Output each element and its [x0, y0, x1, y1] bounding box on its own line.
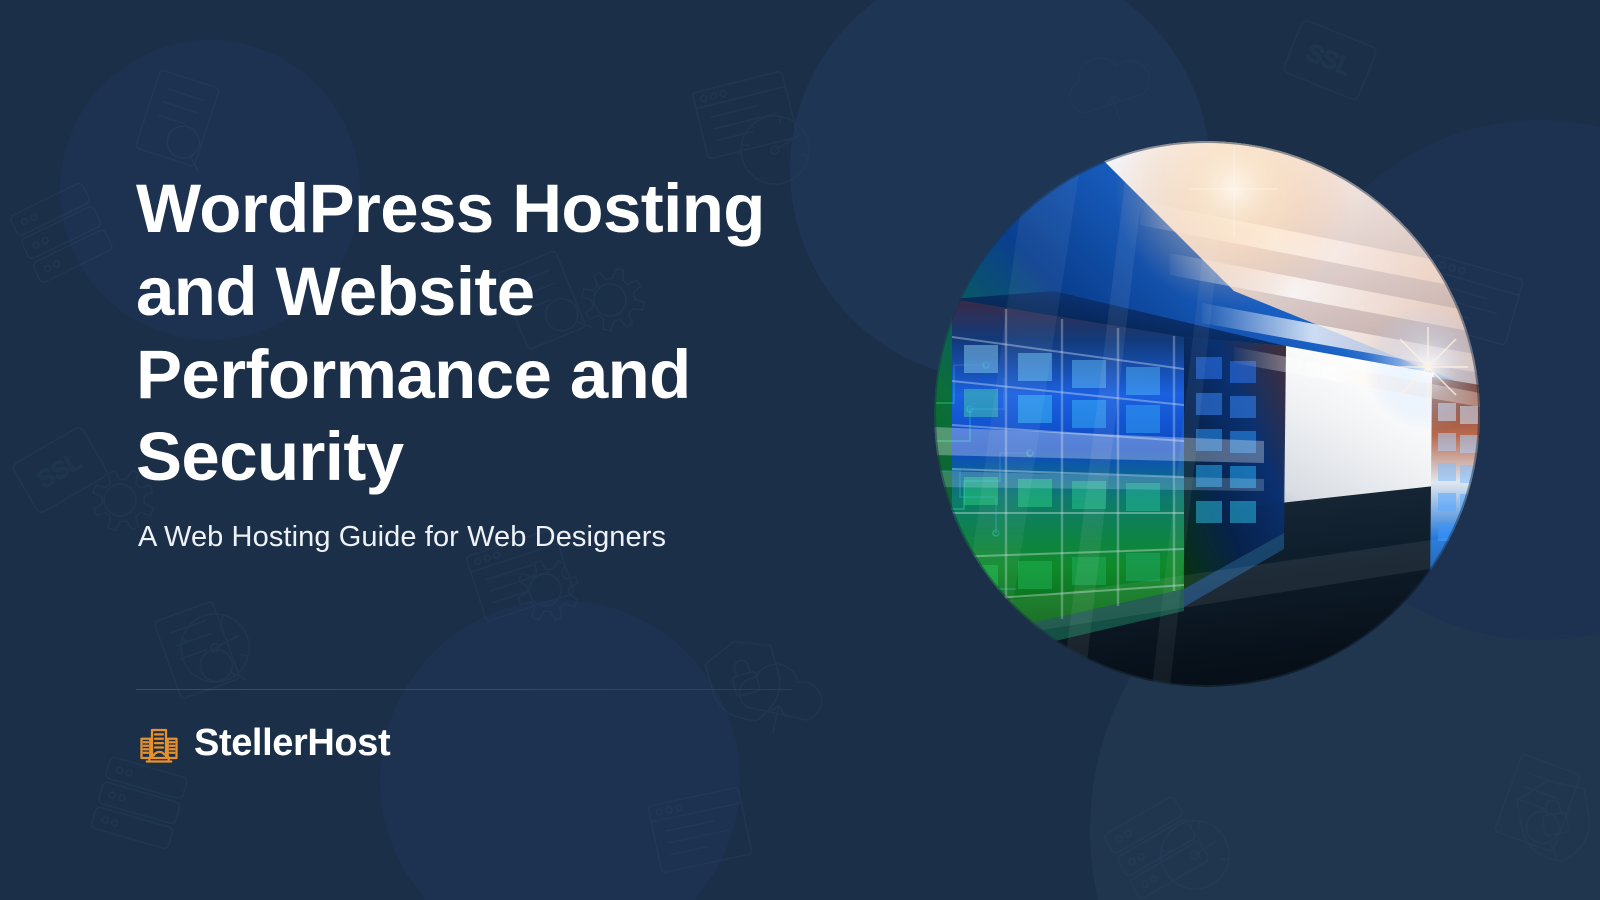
server-room-image [934, 141, 1480, 687]
divider [136, 689, 792, 690]
text-column: WordPress Hosting and Website Performanc… [136, 0, 836, 900]
page-title: WordPress Hosting and Website Performanc… [136, 168, 826, 499]
brand-lockup[interactable]: StellerHost [138, 722, 390, 765]
server-cloud-icon [138, 723, 180, 765]
brand-name: StellerHost [194, 722, 390, 765]
page-subtitle: A Web Hosting Guide for Web Designers [138, 521, 666, 554]
blog-banner: SSL [0, 0, 1600, 900]
hero-image-circle [934, 141, 1480, 687]
